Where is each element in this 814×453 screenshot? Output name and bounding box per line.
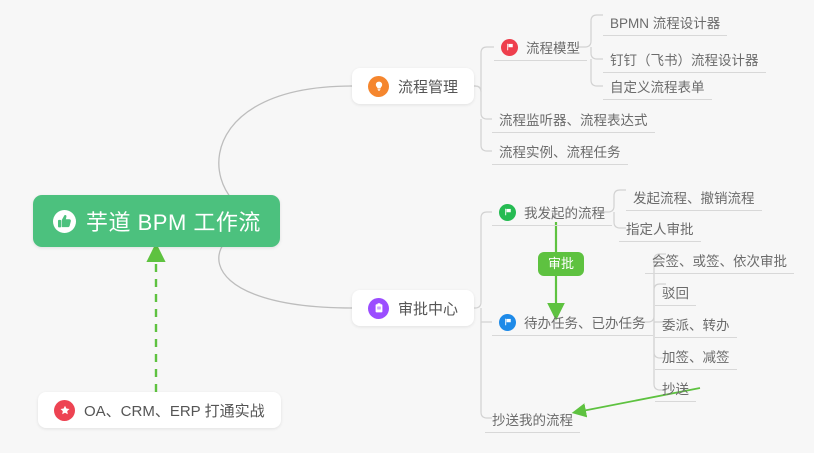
- node-label: 抄送我的流程: [492, 409, 573, 429]
- branch-label: 流程管理: [398, 76, 458, 97]
- node-label: 抄送: [662, 378, 689, 398]
- connector-lg-to-instance: [481, 119, 492, 151]
- mindmap-canvas: 芋道 BPM 工作流 流程管理 流程模型 BPMN 流程设计器 钉钉（飞书）流程…: [0, 0, 814, 453]
- node-label: 委派、转办: [662, 314, 730, 334]
- node-label: 加签、减签: [662, 346, 730, 366]
- node-bpmn-designer[interactable]: BPMN 流程设计器: [603, 8, 727, 36]
- node-instance-task[interactable]: 流程实例、流程任务: [492, 137, 628, 165]
- node-custom-form[interactable]: 自定义流程表单: [603, 72, 712, 100]
- note-label: OA、CRM、ERP 打通实战: [84, 400, 265, 421]
- node-my-started-process[interactable]: 我发起的流程: [492, 198, 612, 226]
- approval-badge: 审批: [538, 252, 584, 276]
- branch-node-liucheng-guanli[interactable]: 流程管理: [352, 68, 474, 104]
- node-label: 流程模型: [526, 37, 580, 57]
- node-label: 自定义流程表单: [610, 76, 705, 96]
- node-add-remove-sign[interactable]: 加签、减签: [655, 342, 737, 370]
- node-liucheng-moxing[interactable]: 流程模型: [494, 33, 587, 61]
- node-label: 待办任务、已办任务: [524, 312, 646, 332]
- connector-moxing-to-dingtalk: [591, 47, 603, 59]
- node-label: 会签、或签、依次审批: [652, 250, 787, 270]
- flag-icon-green: [499, 204, 516, 221]
- node-label: 流程实例、流程任务: [499, 141, 621, 161]
- thumbs-up-icon: [53, 210, 76, 233]
- node-cc[interactable]: 抄送: [655, 374, 696, 402]
- node-delegate-transfer[interactable]: 委派、转办: [655, 310, 737, 338]
- node-label: BPMN 流程设计器: [610, 12, 720, 32]
- node-label: 钉钉（飞书）流程设计器: [610, 49, 759, 69]
- node-reject[interactable]: 驳回: [655, 278, 696, 306]
- connector-sc-to-todo-done: [481, 308, 492, 322]
- root-node[interactable]: 芋道 BPM 工作流: [33, 195, 280, 247]
- node-label: 我发起的流程: [524, 202, 605, 222]
- node-label: 发起流程、撤销流程: [633, 187, 755, 207]
- connector-moxing-to-customform: [591, 59, 603, 86]
- branch-label: 审批中心: [398, 298, 458, 319]
- flag-icon-blue: [499, 314, 516, 331]
- branch-node-shenpi-zhongxin[interactable]: 审批中心: [352, 290, 474, 326]
- lightbulb-icon: [368, 76, 389, 97]
- connector-sc-to-cc-to-me: [481, 322, 492, 418]
- node-dingtalk-feishu-designer[interactable]: 钉钉（飞书）流程设计器: [603, 45, 766, 73]
- note-node[interactable]: OA、CRM、ERP 打通实战: [38, 392, 281, 428]
- node-todo-done-task[interactable]: 待办任务、已办任务: [492, 308, 653, 336]
- node-countersign[interactable]: 会签、或签、依次审批: [645, 246, 794, 274]
- star-icon: [54, 400, 75, 421]
- clipboard-icon: [368, 298, 389, 319]
- node-assignee-approve[interactable]: 指定人审批: [619, 214, 701, 242]
- flag-icon-red: [501, 39, 518, 56]
- node-label: 流程监听器、流程表达式: [499, 109, 648, 129]
- node-label: 驳回: [662, 282, 689, 302]
- node-label: 指定人审批: [626, 218, 694, 238]
- root-label: 芋道 BPM 工作流: [86, 205, 261, 237]
- node-listener-expression[interactable]: 流程监听器、流程表达式: [492, 105, 655, 133]
- node-start-cancel[interactable]: 发起流程、撤销流程: [626, 183, 762, 211]
- node-cc-to-me[interactable]: 抄送我的流程: [485, 405, 580, 433]
